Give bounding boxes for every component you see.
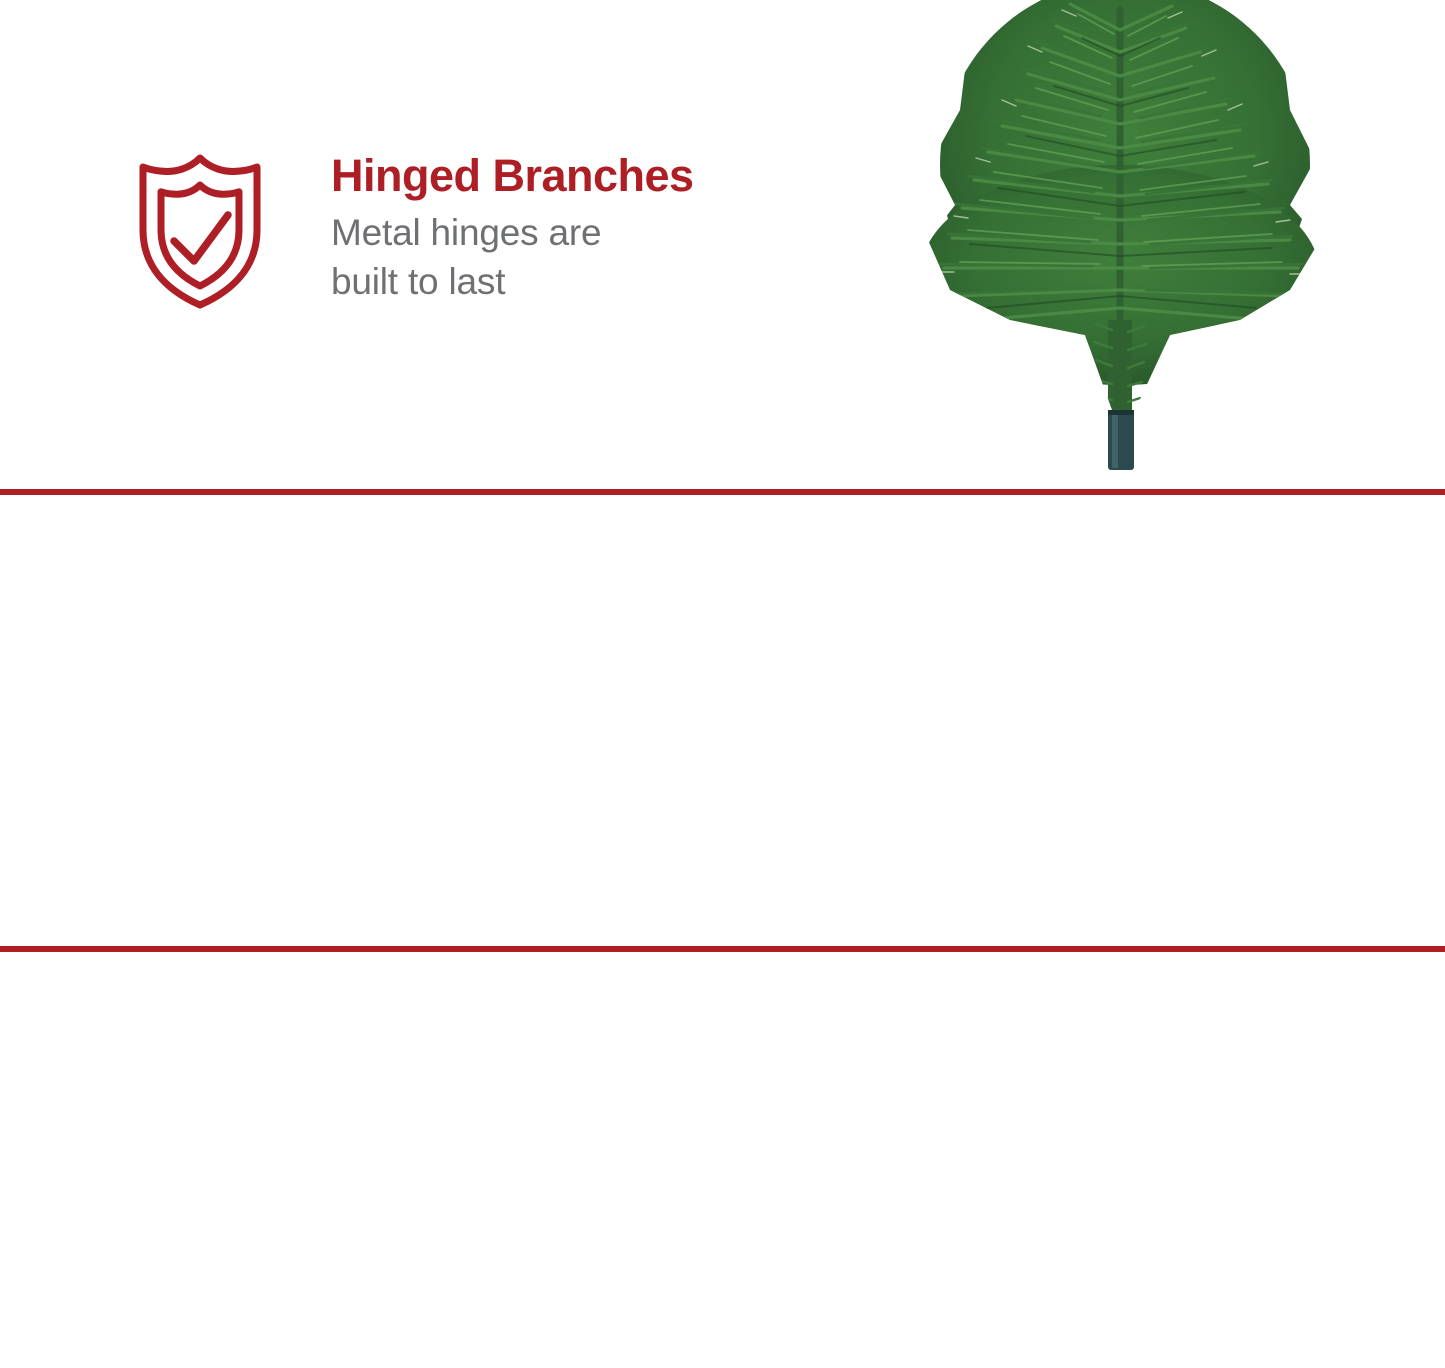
shield-check-icon [126, 148, 274, 313]
product-feature-infographic: Hinged Branches Metal hinges are built t… [0, 0, 1445, 1368]
feature-panel-sturdy-base: Sturdy Base A reliable metal stand for y… [0, 952, 1445, 1368]
feature-description: Metal hinges are built to last [331, 209, 694, 307]
feature-description-line-1: Metal hinges are [331, 212, 601, 253]
feature-text-hinged-branches: Hinged Branches Metal hinges are built t… [331, 152, 694, 307]
feature-panel-pvc-tips: PVC Tips Flame-retardant and easy to flu… [0, 495, 1445, 946]
feature-description-line-2: built to last [331, 261, 505, 302]
feature-title: Hinged Branches [331, 152, 694, 199]
christmas-tree-top-photo [820, 0, 1445, 489]
feature-panel-hinged-branches: Hinged Branches Metal hinges are built t… [0, 0, 1445, 489]
